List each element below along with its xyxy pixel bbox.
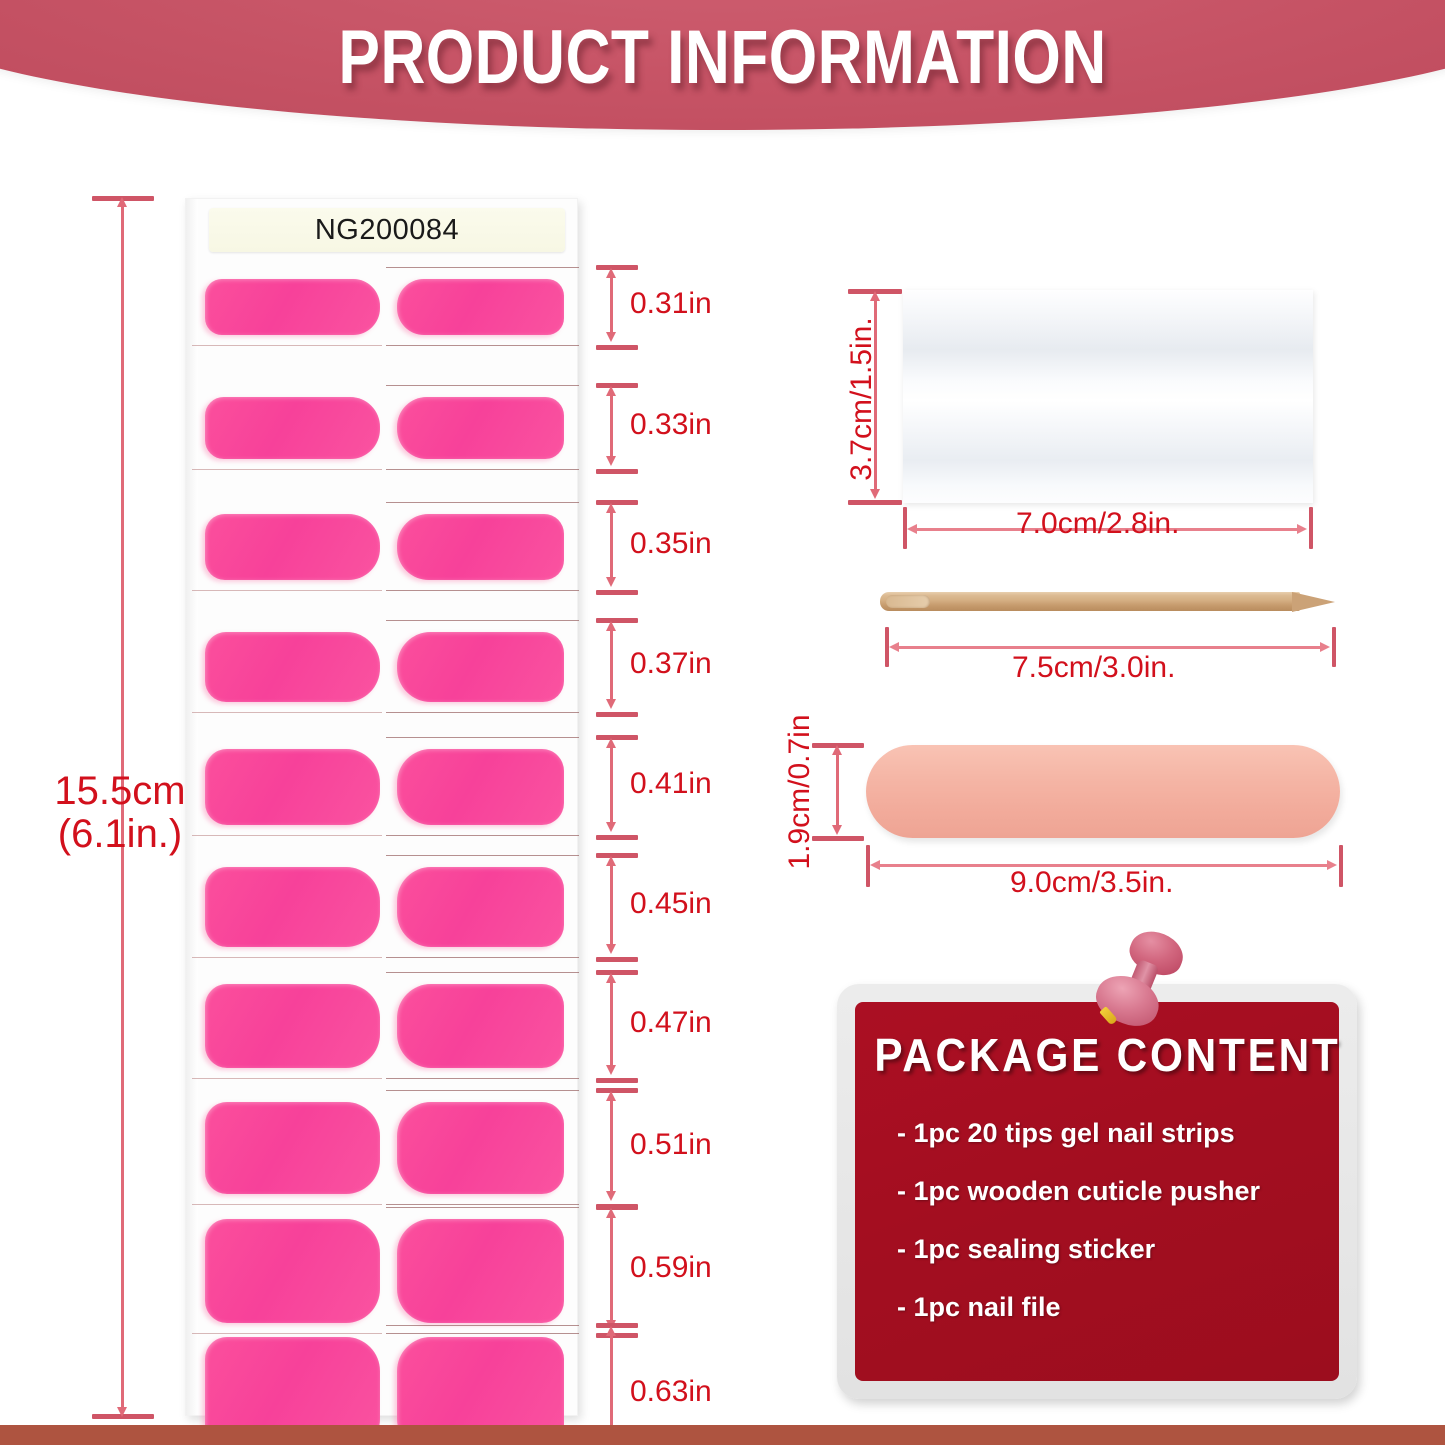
- package-content-item: - 1pc 20 tips gel nail strips: [897, 1118, 1339, 1149]
- strip-divider-line: [386, 957, 579, 958]
- strip-dimension-arrow: [610, 512, 613, 578]
- nail-strip: [205, 867, 380, 947]
- strip-divider-line: [192, 469, 382, 470]
- file-height-bottom-tick: [812, 836, 864, 841]
- strip-dimension-arrow: [610, 630, 613, 700]
- nail-strip: [397, 514, 564, 580]
- nail-strip: [205, 397, 380, 459]
- strip-divider-line: [386, 469, 579, 470]
- sheet-height-label: 15.5cm (6.1in.): [40, 770, 200, 856]
- product-code-text: NG200084: [315, 214, 459, 247]
- strip-divider-line: [386, 1204, 579, 1205]
- strip-divider-line: [386, 1325, 579, 1326]
- strip-divider-line: [386, 267, 579, 268]
- strip-divider-line: [192, 712, 382, 713]
- nail-strip: [397, 984, 564, 1068]
- strip-divider-line: [386, 345, 579, 346]
- strip-dimension-arrow: [610, 747, 613, 823]
- strip-dimension-tick: [596, 383, 638, 388]
- strip-divider-line: [386, 1207, 579, 1208]
- pusher-length-right-tick: [1332, 627, 1336, 667]
- nail-file-image: [866, 745, 1340, 838]
- sticker-width-label: 7.0cm/2.8in.: [1016, 507, 1179, 541]
- strip-divider-line: [386, 1090, 579, 1091]
- strip-divider-line: [386, 855, 579, 856]
- sheet-height-cm: 15.5cm: [40, 770, 200, 813]
- strip-dimension-label: 0.63in: [630, 1375, 712, 1409]
- strip-dimension-tick: [596, 712, 638, 717]
- strip-dimension-label: 0.59in: [630, 1251, 712, 1285]
- bottom-accent-bar: [0, 1425, 1445, 1445]
- sheet-height-in: (6.1in.): [40, 813, 200, 856]
- strip-divider-line: [192, 957, 382, 958]
- page-title: PRODUCT INFORMATION: [130, 14, 1315, 101]
- pusher-length-arrow: [898, 646, 1321, 649]
- strip-divider-line: [192, 345, 382, 346]
- strip-divider-line: [386, 620, 579, 621]
- strip-divider-line: [386, 737, 579, 738]
- file-width-right-tick: [1339, 845, 1343, 887]
- nail-strip: [205, 984, 380, 1068]
- cuticle-pusher-image: [880, 588, 1335, 614]
- nail-strip: [205, 1219, 380, 1323]
- strip-dimension-label: 0.35in: [630, 527, 712, 561]
- nail-strip: [397, 397, 564, 459]
- nail-strip: [205, 632, 380, 702]
- sticker-width-right-tick: [1309, 507, 1313, 549]
- strip-dimension-arrow: [610, 277, 613, 333]
- cuticle-pusher-tip: [1292, 592, 1335, 612]
- nail-strip: [397, 632, 564, 702]
- strip-divider-line: [386, 1333, 579, 1334]
- strip-dimension-label: 0.51in: [630, 1128, 712, 1162]
- strip-divider-line: [192, 835, 382, 836]
- strip-dimension-tick: [596, 735, 638, 740]
- nail-strip: [397, 1219, 564, 1323]
- package-content-card: PACKAGE CONTENT - 1pc 20 tips gel nail s…: [837, 984, 1357, 1399]
- strip-dimension-arrow: [610, 1217, 613, 1321]
- strip-dimension-tick: [596, 345, 638, 350]
- strip-dimension-arrow: [610, 395, 613, 457]
- strip-divider-line: [192, 1204, 382, 1205]
- strip-divider-line: [386, 712, 579, 713]
- strip-divider-line: [386, 972, 579, 973]
- strip-dimension-tick: [596, 500, 638, 505]
- strip-dimension-tick: [596, 970, 638, 975]
- strip-dimension-tick: [596, 853, 638, 858]
- nail-strip: [397, 279, 564, 335]
- strip-dimension-label: 0.45in: [630, 887, 712, 921]
- strip-divider-line: [386, 835, 579, 836]
- strip-dimension-label: 0.33in: [630, 408, 712, 442]
- strip-dimension-tick: [596, 835, 638, 840]
- strip-dimension-label: 0.47in: [630, 1006, 712, 1040]
- strip-dimension-tick: [596, 1323, 638, 1328]
- strip-divider-line: [192, 1333, 382, 1334]
- strip-dimension-tick: [596, 590, 638, 595]
- strip-dimension-tick: [596, 265, 638, 270]
- strip-divider-line: [386, 1078, 579, 1079]
- product-code-label: NG200084: [209, 208, 565, 252]
- nail-strip: [397, 867, 564, 947]
- strip-dimension-label: 0.31in: [630, 287, 712, 321]
- strip-dimension-arrow: [610, 1100, 613, 1192]
- strip-dimension-tick: [596, 1078, 638, 1083]
- package-content-item: - 1pc nail file: [897, 1292, 1339, 1323]
- file-width-label: 9.0cm/3.5in.: [1010, 866, 1173, 900]
- strip-divider-line: [192, 590, 382, 591]
- strip-dimension-tick: [596, 1205, 638, 1210]
- strip-divider-line: [192, 1078, 382, 1079]
- strip-dimension-arrow: [610, 865, 613, 945]
- sealing-sticker-image: [903, 290, 1313, 503]
- strip-dimension-label: 0.41in: [630, 767, 712, 801]
- strip-dimension-tick: [596, 957, 638, 962]
- nail-strip: [205, 749, 380, 825]
- nail-strip: [397, 1102, 564, 1194]
- strip-divider-line: [386, 502, 579, 503]
- package-content-title: PACKAGE CONTENT: [874, 1028, 1319, 1082]
- strip-dimension-tick: [596, 469, 638, 474]
- cuticle-pusher-body: [880, 592, 1300, 611]
- nail-strip: [205, 514, 380, 580]
- strip-dimension-tick: [596, 1088, 638, 1093]
- strip-dimension-label: 0.37in: [630, 647, 712, 681]
- nail-strip: [205, 1102, 380, 1194]
- package-content-inner: PACKAGE CONTENT - 1pc 20 tips gel nail s…: [855, 1002, 1339, 1381]
- package-content-list: - 1pc 20 tips gel nail strips- 1pc woode…: [855, 1118, 1339, 1323]
- file-height-label: 1.9cm/0.7in: [783, 687, 817, 897]
- strip-divider-line: [386, 385, 579, 386]
- strip-dimension-tick: [596, 1333, 638, 1338]
- package-content-item: - 1pc sealing sticker: [897, 1234, 1339, 1265]
- nail-strip-sheet: NG200084: [185, 198, 578, 1416]
- file-height-arrow: [836, 754, 839, 826]
- pusher-length-label: 7.5cm/3.0in.: [1012, 651, 1175, 685]
- package-content-item: - 1pc wooden cuticle pusher: [897, 1176, 1339, 1207]
- product-information-page: PRODUCT INFORMATION NG200084 15.5cm (6.1…: [0, 0, 1445, 1445]
- strip-dimension-arrow: [610, 982, 613, 1066]
- nail-strip: [397, 749, 564, 825]
- nail-strip: [205, 279, 380, 335]
- strip-dimension-tick: [596, 618, 638, 623]
- sticker-height-label: 3.7cm/1.5in.: [845, 289, 879, 509]
- strip-divider-line: [386, 590, 579, 591]
